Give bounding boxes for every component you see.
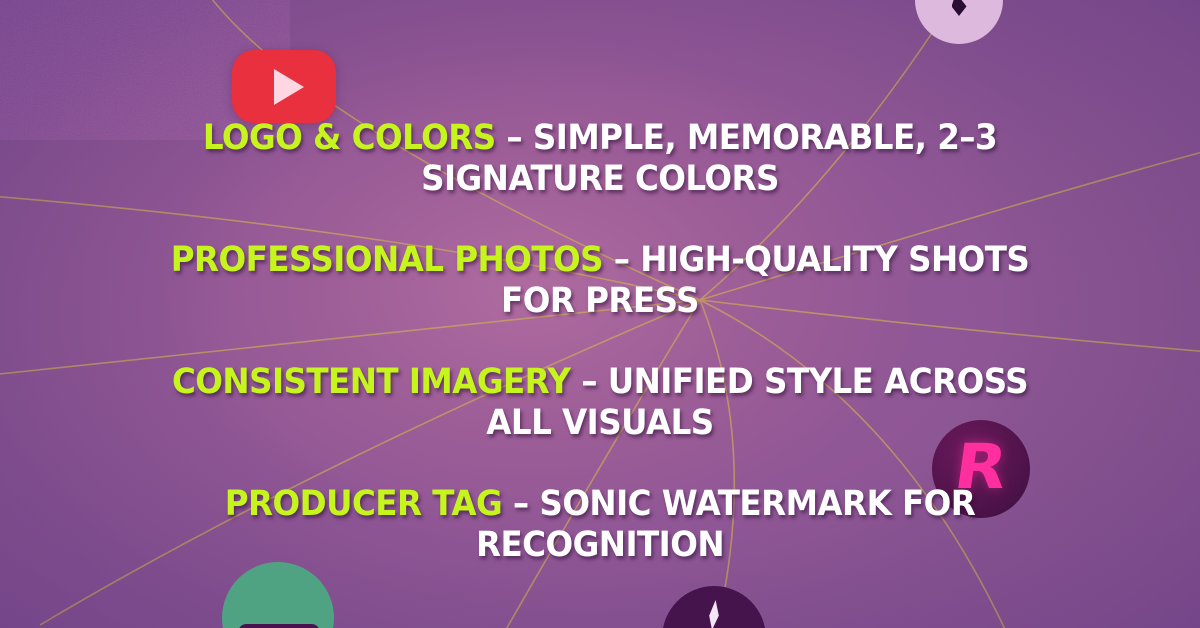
bullet-item-1: LOGO & COLORS – SIMPLE, MEMORABLE, 2–3 S…	[135, 118, 1065, 200]
bullet-3-highlight: CONSISTENT IMAGERY	[172, 362, 570, 402]
bullet-item-3: CONSISTENT IMAGERY – UNIFIED STYLE ACROS…	[135, 362, 1065, 444]
slide-canvas: R LOGO & COLORS – SIMPLE, MEMORABLE, 2–3…	[0, 0, 1200, 628]
bullet-item-2: PROFESSIONAL PHOTOS – HIGH-QUALITY SHOTS…	[135, 240, 1065, 322]
bullet-item-4: PRODUCER TAG – SONIC WATERMARK FOR RECOG…	[135, 484, 1065, 566]
bullet-1-separator: –	[496, 118, 533, 158]
bullet-1-highlight: LOGO & COLORS	[203, 118, 496, 158]
bullet-4-highlight: PRODUCER TAG	[225, 484, 502, 524]
bullet-list: LOGO & COLORS – SIMPLE, MEMORABLE, 2–3 S…	[0, 0, 1200, 628]
bullet-2-separator: –	[603, 240, 640, 280]
bullet-4-separator: –	[502, 484, 539, 524]
bullet-4-rest: SONIC WATERMARK FOR RECOGNITION	[476, 484, 975, 565]
bullet-2-highlight: PROFESSIONAL PHOTOS	[171, 240, 603, 280]
bullet-3-separator: –	[570, 362, 607, 402]
